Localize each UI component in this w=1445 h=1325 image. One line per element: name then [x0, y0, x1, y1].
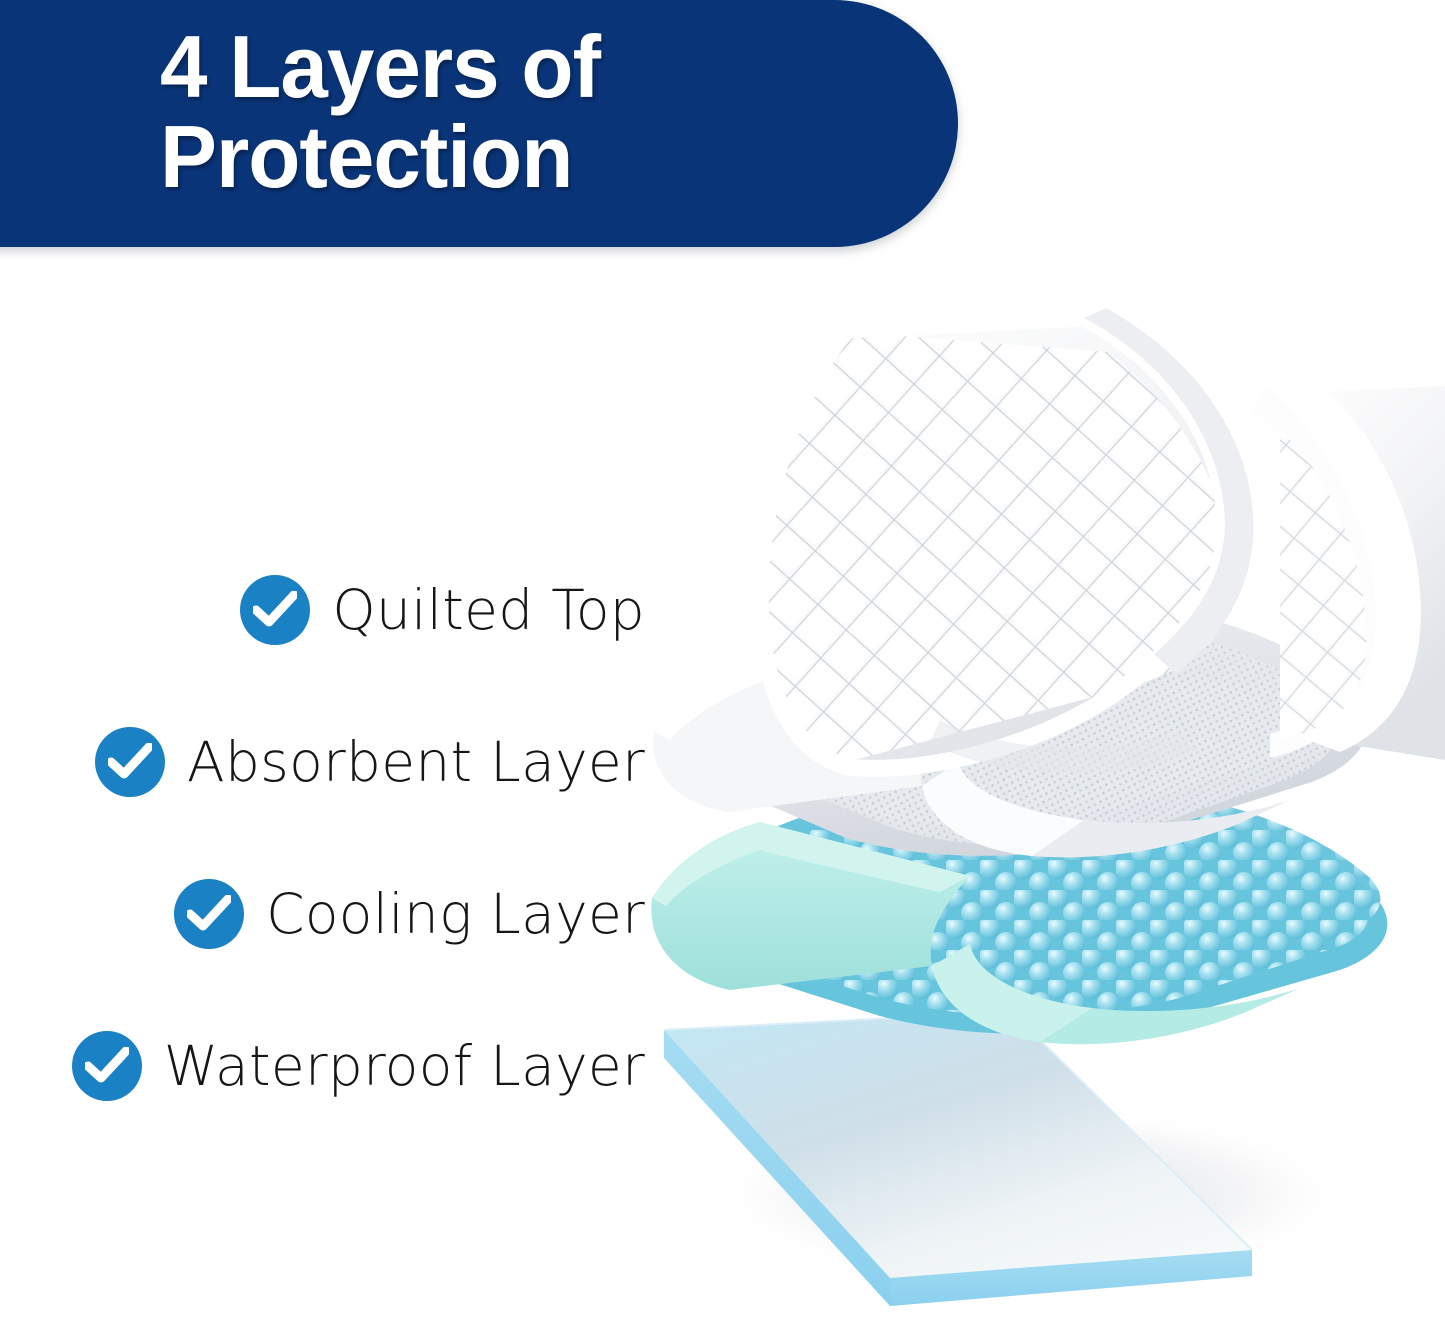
list-item: Waterproof Layer	[0, 1016, 660, 1116]
list-item-label: Quilted Top	[332, 583, 645, 638]
header-banner: 4 Layers of Protection	[0, 0, 958, 247]
list-item-label: Absorbent Layer	[187, 735, 645, 790]
list-item: Absorbent Layer	[0, 712, 660, 812]
check-circle-icon	[174, 879, 244, 949]
list-item-label: Waterproof Layer	[164, 1039, 645, 1094]
list-item-label: Cooling Layer	[266, 887, 645, 942]
list-item: Cooling Layer	[0, 864, 660, 964]
infographic-canvas: 4 Layers of Protection Quilted Top Absor…	[0, 0, 1445, 1325]
check-circle-icon	[240, 575, 310, 645]
check-circle-icon	[72, 1031, 142, 1101]
check-circle-icon	[95, 727, 165, 797]
page-title: 4 Layers of Protection	[160, 22, 781, 202]
exploded-layers-illustration	[640, 290, 1445, 1325]
layer-feature-list: Quilted Top Absorbent Layer Cooling Laye…	[0, 560, 660, 1116]
list-item: Quilted Top	[0, 560, 660, 660]
